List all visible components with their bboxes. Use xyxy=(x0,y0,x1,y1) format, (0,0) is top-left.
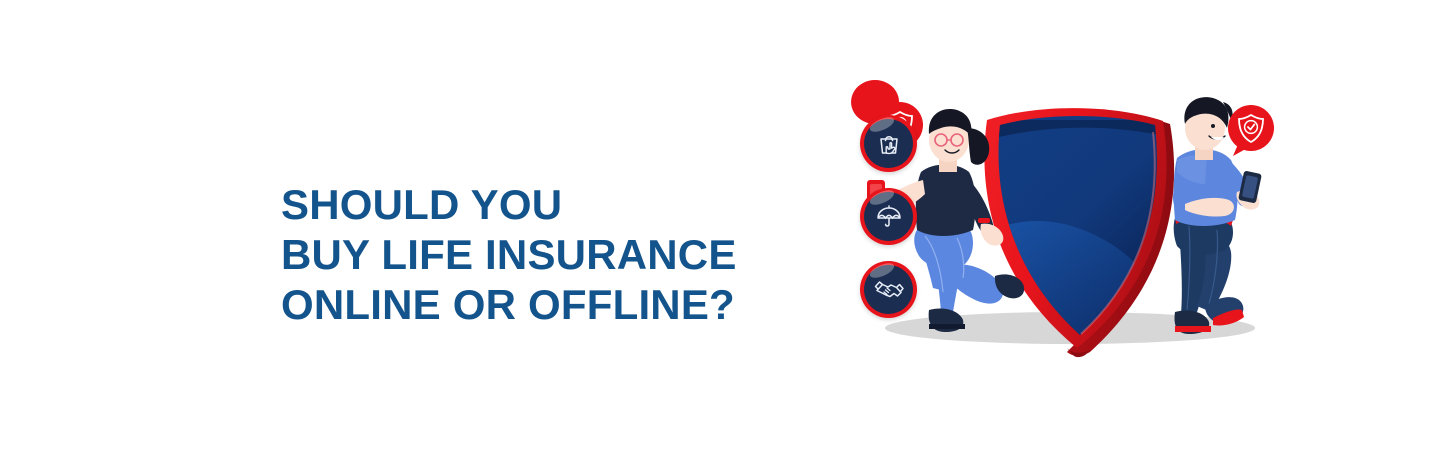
badge-protection[interactable] xyxy=(860,188,917,245)
promo-banner: SHOULD YOU BUY LIFE INSURANCE ONLINE OR … xyxy=(0,0,1440,463)
page-title: SHOULD YOU BUY LIFE INSURANCE ONLINE OR … xyxy=(281,180,801,330)
handshake-icon xyxy=(873,274,905,306)
badge-online-shopping[interactable] xyxy=(860,115,917,172)
headline-line-1: SHOULD YOU xyxy=(281,180,801,230)
feature-badge-list xyxy=(860,115,920,325)
badge-agent-deal[interactable] xyxy=(860,261,917,318)
headline-line-3: ONLINE OR OFFLINE? xyxy=(281,280,801,330)
headline-line-2: BUY LIFE INSURANCE xyxy=(281,230,801,280)
speech-bubble-man xyxy=(1228,105,1274,156)
umbrella-icon xyxy=(874,202,904,232)
shopping-bag-cursor-icon xyxy=(874,129,904,159)
